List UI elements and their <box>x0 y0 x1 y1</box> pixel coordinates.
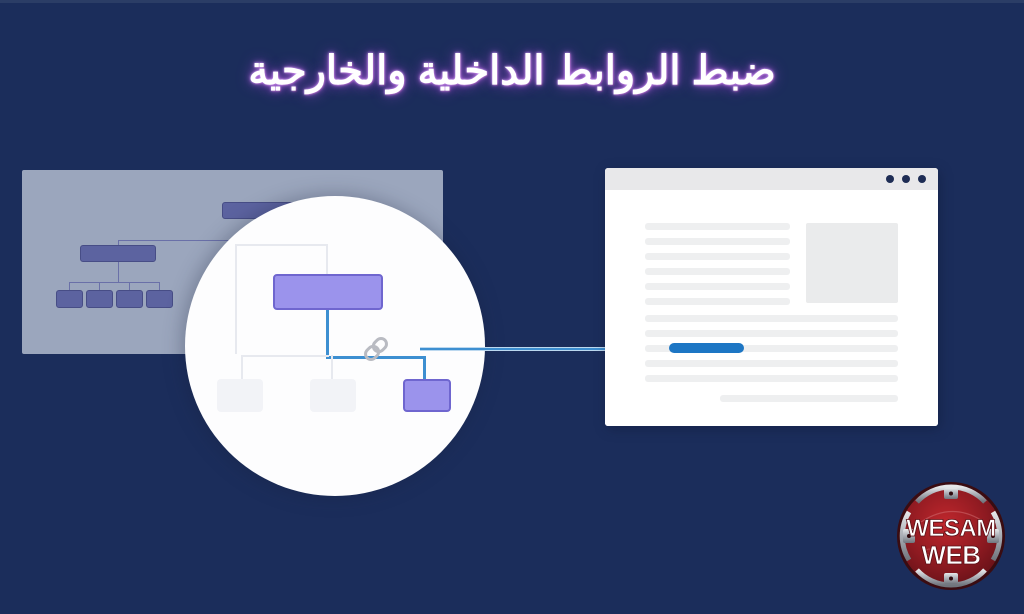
tree-node-leaf <box>86 290 113 308</box>
text-placeholder-line <box>645 360 898 367</box>
text-placeholder-line <box>645 283 790 290</box>
page-title: ضبط الروابط الداخلية والخارجية <box>0 42 1024 100</box>
tree-connector <box>69 282 159 283</box>
tree-node-branch <box>80 245 156 262</box>
tree-node-leaf <box>116 290 143 308</box>
zoom-connector-ghost <box>235 244 328 246</box>
logo-text-line1: WESAM <box>906 515 996 542</box>
window-dot-icon[interactable] <box>902 175 910 183</box>
wesam-web-logo: WESAM WEB <box>895 478 1007 596</box>
text-placeholder-line <box>645 223 790 230</box>
zoom-node-ghost <box>310 379 356 412</box>
zoom-node-ghost <box>217 379 263 412</box>
magnifier-content <box>185 196 485 496</box>
zoom-connector-ghost <box>241 355 243 381</box>
text-placeholder-line <box>645 315 898 322</box>
window-controls[interactable] <box>886 175 926 183</box>
text-placeholder-line <box>645 330 898 337</box>
tree-connector <box>118 262 119 283</box>
text-placeholder-line <box>645 268 790 275</box>
logo-text-line2: WEB <box>921 540 980 570</box>
text-placeholder-line <box>645 238 790 245</box>
text-placeholder-line <box>645 375 898 382</box>
webpage-content <box>605 190 938 426</box>
magnifier-lens <box>185 196 485 496</box>
text-placeholder-line <box>720 395 898 402</box>
top-edge-accent <box>0 0 1024 3</box>
zoom-connector-ghost <box>331 355 333 381</box>
zoom-connector-ghost <box>241 355 329 357</box>
text-placeholder-line <box>645 298 790 305</box>
text-placeholder-line <box>645 253 790 260</box>
window-dot-icon[interactable] <box>918 175 926 183</box>
tree-node-leaf <box>146 290 173 308</box>
browser-titlebar <box>605 168 938 190</box>
zoom-node-parent <box>273 274 383 310</box>
image-placeholder <box>806 223 898 303</box>
window-dot-icon[interactable] <box>886 175 894 183</box>
tree-node-leaf <box>56 290 83 308</box>
highlighted-link[interactable] <box>669 343 744 353</box>
poster-canvas: ضبط الروابط الداخلية والخارجية <box>0 0 1024 614</box>
zoom-connector-ghost <box>235 244 237 354</box>
webpage-preview <box>605 168 938 426</box>
zoom-node-child <box>403 379 451 412</box>
zoom-connector-active <box>326 310 329 358</box>
zoom-connector-ghost <box>326 244 328 274</box>
